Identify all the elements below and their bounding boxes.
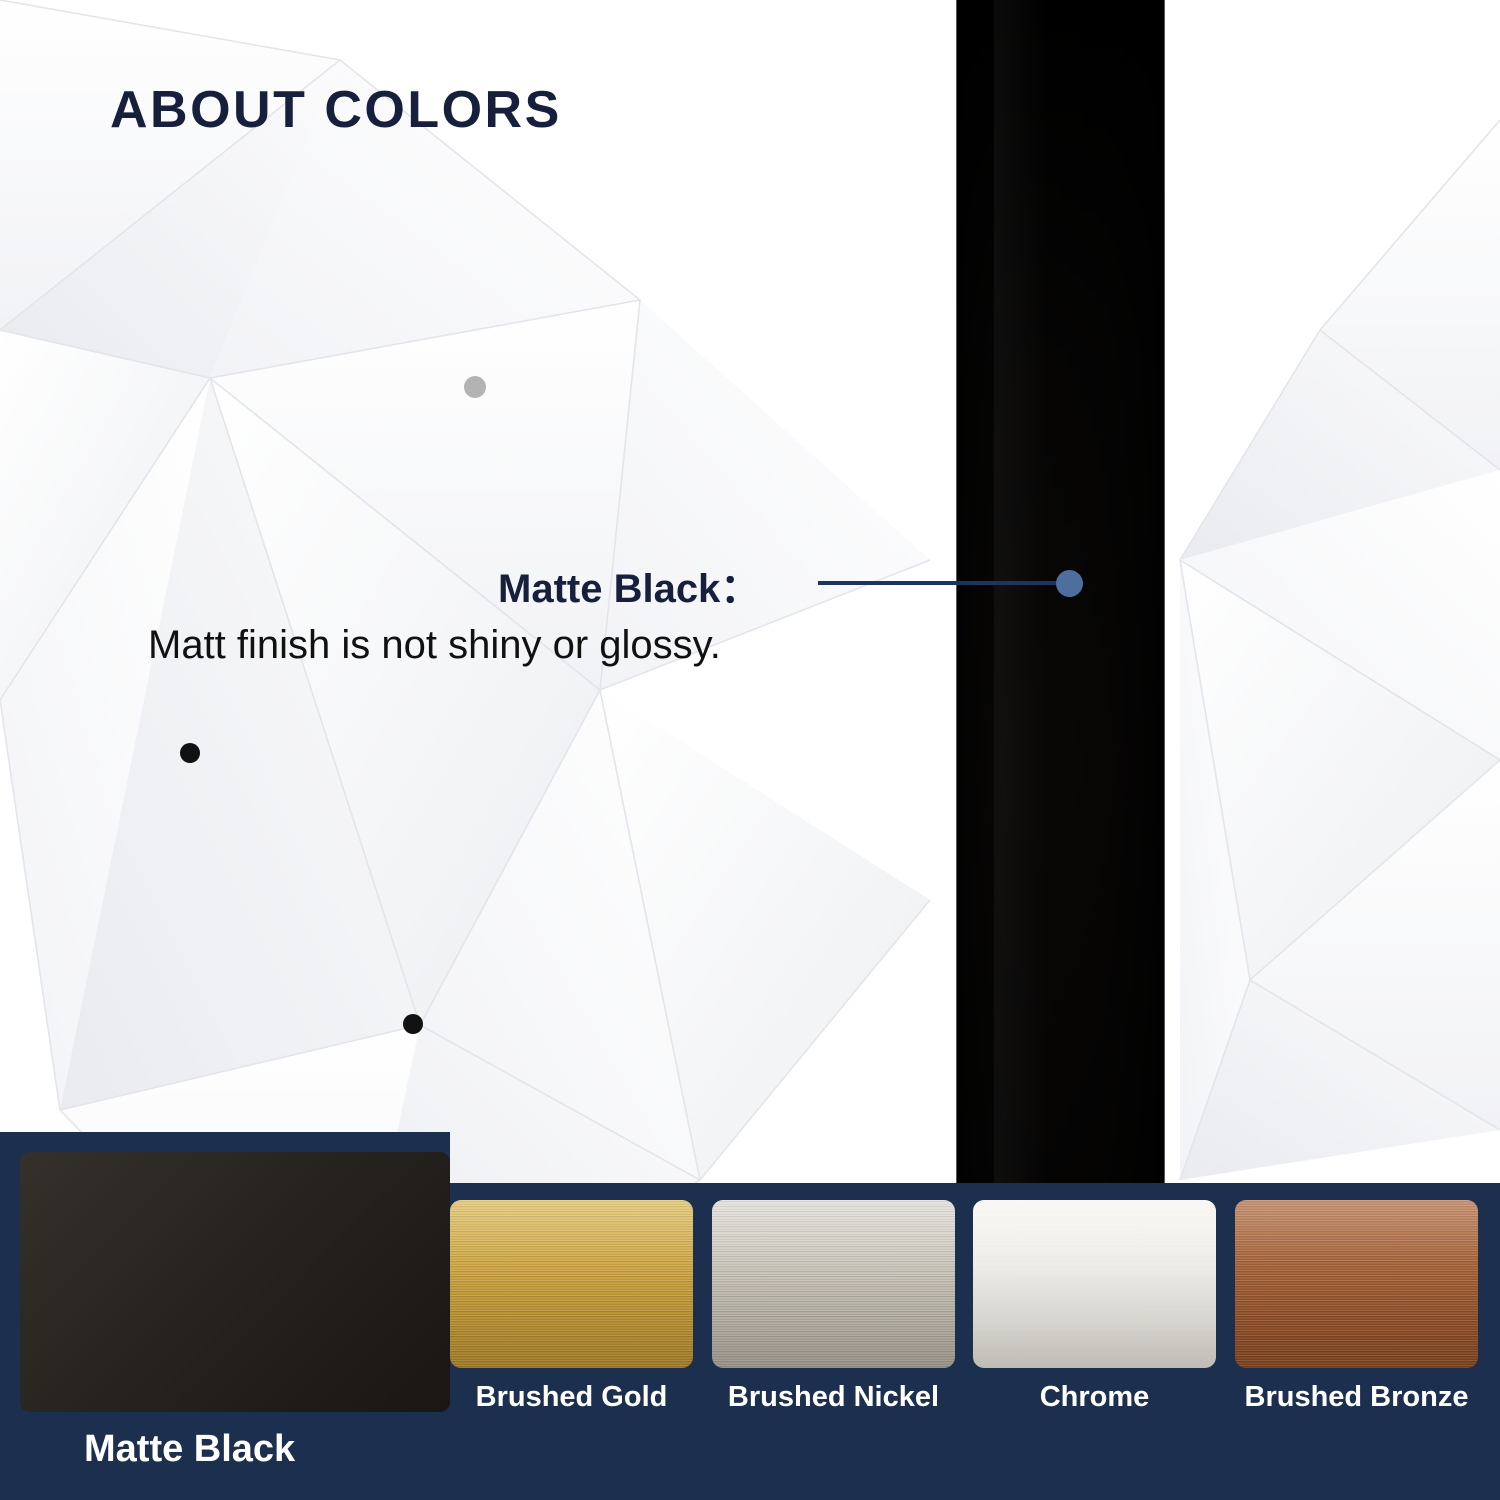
swatch-label-brushed-nickel: Brushed Nickel	[712, 1381, 955, 1414]
swatch-label-matte-black: Matte Black	[84, 1428, 295, 1471]
swatch-label-brushed-gold: Brushed Gold	[450, 1381, 693, 1414]
gloss-overlay	[712, 1200, 955, 1368]
gloss-overlay	[1235, 1200, 1478, 1368]
product-sheen	[994, 0, 1048, 1185]
gloss-overlay	[973, 1200, 1216, 1368]
callout-label: Matte Black：	[498, 556, 760, 614]
page-title: ABOUT COLORS	[110, 80, 562, 140]
decorative-dot-black-lower	[403, 1014, 423, 1034]
gloss-overlay	[450, 1200, 693, 1368]
callout-description: Matt finish is not shiny or glossy.	[148, 623, 721, 668]
swatch-matte-black[interactable]	[20, 1152, 450, 1412]
swatch-chrome[interactable]	[973, 1200, 1216, 1368]
swatch-label-chrome: Chrome	[973, 1381, 1216, 1414]
decorative-dot-grey	[464, 376, 486, 398]
swatch-brushed-bronze[interactable]	[1235, 1200, 1478, 1368]
swatch-label-brushed-bronze: Brushed Bronze	[1235, 1381, 1478, 1414]
swatch-brushed-gold[interactable]	[450, 1200, 693, 1368]
leader-line	[818, 581, 1068, 585]
infographic-canvas: ABOUT COLORS Matte Black： Matt finish is…	[0, 0, 1500, 1500]
swatch-brushed-nickel[interactable]	[712, 1200, 955, 1368]
leader-dot-icon	[1056, 570, 1083, 597]
decorative-dot-black-upper	[180, 743, 200, 763]
